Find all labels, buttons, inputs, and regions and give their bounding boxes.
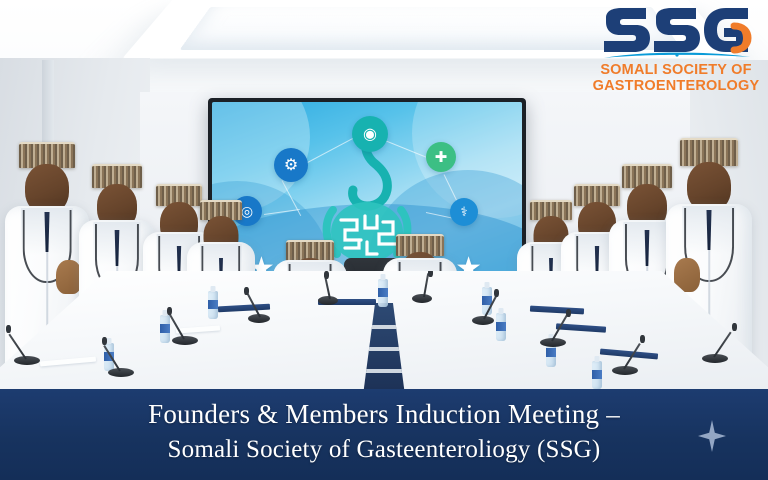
medicine-bottle-icon: ⚙ — [274, 148, 308, 182]
caption-banner: Founders & Members Induction Meeting – S… — [0, 389, 768, 480]
water-bottle — [160, 315, 170, 343]
screenshot-root: ★ ★ — [0, 0, 768, 480]
banner-title-line1: Founders & Members Induction Meeting – — [0, 395, 768, 433]
logo-text-line1: SOMALI SOCIETY OF — [592, 62, 760, 78]
conference-table-area — [0, 271, 768, 389]
ssg-logo: SOMALI SOCIETY OF GASTROENTEROLOGY — [592, 4, 760, 112]
banner-title-line2: Somali Society of Gasteenteroliogy (SSG) — [0, 433, 768, 467]
endoscopy-camera-icon: ◉ — [352, 116, 388, 152]
water-bottle — [592, 361, 602, 389]
water-bottle — [208, 291, 218, 319]
ssg-monogram-icon — [598, 6, 754, 62]
medical-cross-icon: ✚ — [426, 142, 456, 172]
water-bottle — [378, 279, 388, 307]
logo-text-line2: GASTROENTEROLOGY — [592, 78, 760, 94]
water-bottle — [496, 313, 506, 341]
banner-text-block: Founders & Members Induction Meeting – S… — [0, 395, 768, 467]
